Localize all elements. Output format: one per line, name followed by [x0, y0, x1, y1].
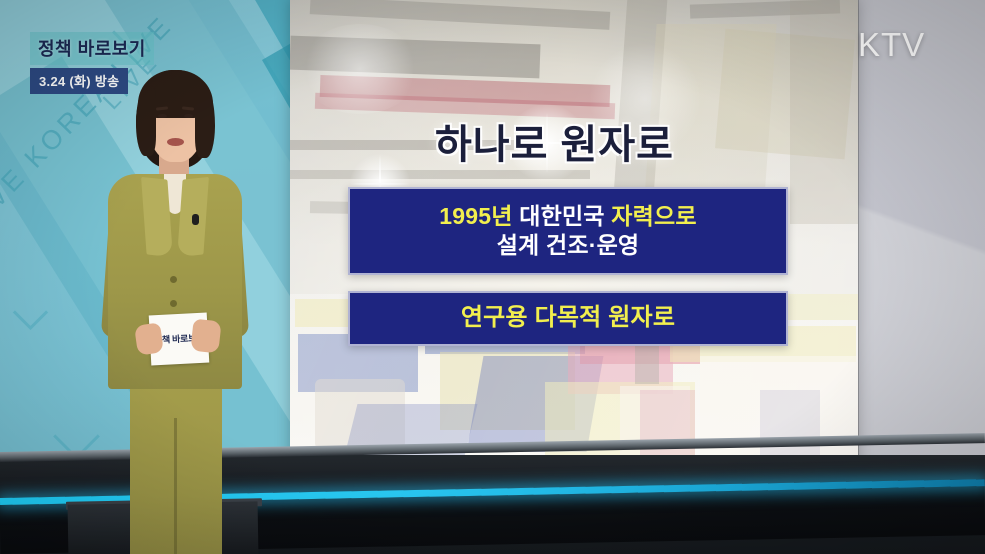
lapel-microphone-icon	[192, 214, 199, 225]
screen-headline: 하나로 원자로	[435, 112, 674, 170]
broadcast-screenshot: LIVE KOREA LIVE LIVE	[0, 0, 985, 554]
screen-caption-bar-2: 연구용 다목적 원자로	[348, 291, 788, 346]
presenter-eye-left	[158, 114, 167, 118]
program-title: 정책 바로보기	[30, 32, 154, 65]
screen-caption-bar-1: 1995년 대한민국 자력으로 설계 건조·운영	[348, 187, 788, 275]
caption-line: 연구용 다목적 원자로	[461, 303, 675, 333]
presenter-hand-right	[190, 319, 221, 354]
presenter-trouser-seam	[174, 418, 177, 554]
channel-watermark: KTV	[858, 26, 925, 64]
broadcast-date: 3.24 (화) 방송	[30, 68, 128, 94]
presenter-jacket-button	[170, 276, 177, 283]
presenter-jacket-button	[170, 300, 177, 307]
presenter-figure: 정책 바로보기	[96, 62, 256, 542]
caption-segment-plain: 대한민국	[519, 203, 611, 229]
presenter-hand-left	[134, 322, 164, 355]
presenter-mouth	[167, 138, 184, 146]
presenter-eye-right	[184, 114, 193, 118]
caption-segment-highlight: 1995년	[439, 203, 519, 229]
caption-line: 1995년 대한민국 자력으로	[439, 202, 696, 231]
caption-line: 설계 건조·운영	[497, 231, 640, 260]
caption-segment-highlight: 자력으로	[611, 203, 696, 229]
program-banner: 정책 바로보기 3.24 (화) 방송	[30, 32, 154, 94]
photo-structure-element	[790, 0, 858, 224]
presenter-hair-side-left	[136, 86, 156, 156]
studio-right-wall-panel	[855, 0, 985, 508]
chevron-decoration-icon	[13, 295, 48, 330]
photo-lens-flare	[300, 24, 420, 114]
presenter-lapel-left	[141, 177, 173, 257]
